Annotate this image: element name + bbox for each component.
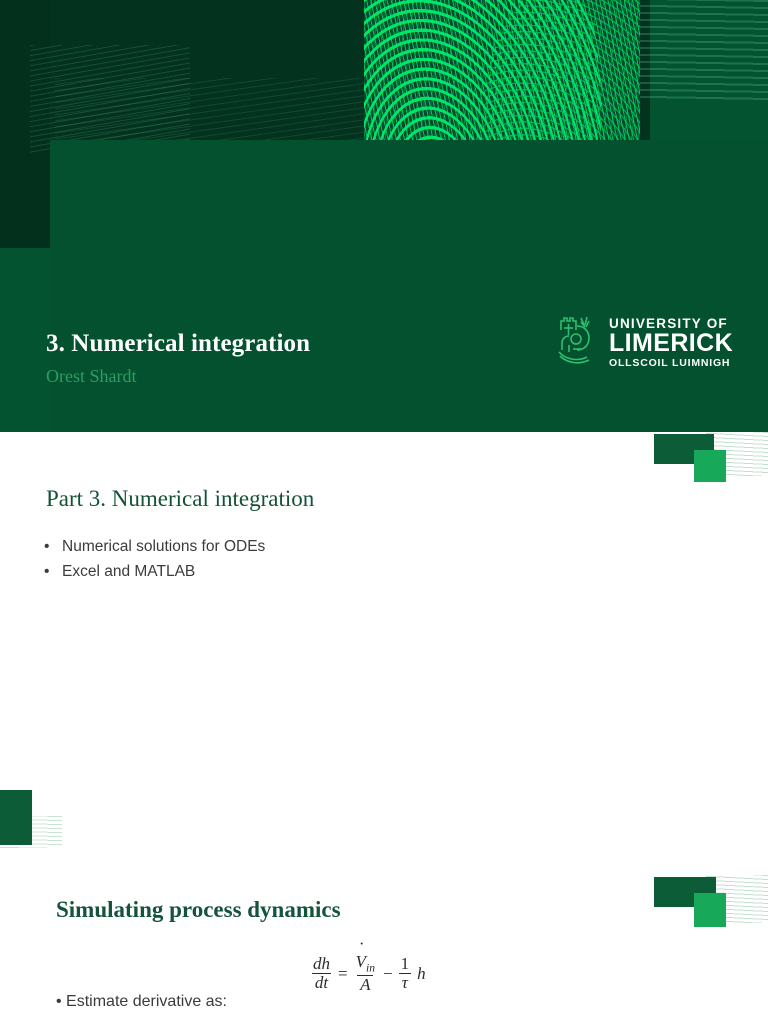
slide1-flow-art-decoration [364, 0, 640, 144]
differential-equation: dh dt = Vin A − 1 τ h [310, 953, 426, 994]
eq-lhs-fraction: dh dt [310, 955, 333, 993]
eq-trailing-variable: h [417, 964, 426, 984]
list-item-label: Excel and MATLAB [62, 559, 195, 584]
eq-term1-fraction: Vin A [353, 953, 378, 994]
university-of-limerick-logo: UNIVERSITY OF LIMERICK OLLSCOIL LUIMNIGH [551, 312, 733, 373]
bullet-marker: • [44, 559, 50, 584]
deco-dark-block [0, 790, 32, 845]
slide1-mid-panel [50, 140, 768, 432]
slide3-title: Simulating process dynamics [56, 897, 341, 923]
slide-deck: 3. Numerical integration Orest Shardt [0, 0, 768, 1024]
eq-lhs-denominator: dt [312, 973, 331, 992]
deco-bright-block [694, 893, 726, 927]
bullet-marker: • [44, 534, 50, 559]
slide-1-title-slide: 3. Numerical integration Orest Shardt [0, 0, 768, 432]
eq-term1-denominator: A [357, 975, 373, 994]
slide3-bullet: • Estimate derivative as: [56, 993, 227, 1011]
ul-wordmark: UNIVERSITY OF LIMERICK OLLSCOIL LUIMNIGH [609, 317, 733, 369]
deco-bright-block [694, 450, 726, 482]
eq-term1-numerator: Vin [353, 953, 378, 975]
eq-equals-sign: = [338, 964, 348, 984]
eq-term1-var: V [356, 953, 366, 971]
eq-term2-numerator: 1 [398, 955, 413, 973]
list-item: • Numerical solutions for ODEs [44, 534, 265, 559]
ul-logo-line3: OLLSCOIL LUIMNIGH [609, 358, 733, 369]
eq-term2-fraction: 1 τ [398, 955, 413, 993]
ul-crest-icon [551, 312, 601, 373]
ul-logo-line1: UNIVERSITY OF [609, 317, 733, 331]
slide-2-agenda-slide: Part 3. Numerical integration • Numerica… [0, 432, 768, 865]
slide2-title: Part 3. Numerical integration [46, 486, 314, 512]
list-item-label: Numerical solutions for ODEs [62, 534, 265, 559]
slide-3-content-slide: Simulating process dynamics dh dt = Vin … [0, 865, 768, 1024]
slide2-corner-decoration [640, 432, 768, 492]
author-name: Orest Shardt [46, 366, 136, 387]
slide2-bottom-left-decoration [0, 790, 70, 850]
slide1-right-wave-texture [640, 0, 768, 100]
eq-lhs-numerator: dh [310, 955, 333, 973]
eq-term2-denominator: τ [399, 973, 411, 992]
ul-logo-line2: LIMERICK [609, 331, 733, 356]
list-item: • Excel and MATLAB [44, 559, 265, 584]
flow-swirl-secondary [484, 0, 640, 144]
eq-minus-sign: − [383, 964, 393, 984]
eq-term1-subscript: in [366, 961, 375, 974]
slide3-corner-decoration [640, 873, 768, 939]
page-title: 3. Numerical integration [46, 330, 310, 358]
slide2-bullet-list: • Numerical solutions for ODEs • Excel a… [44, 534, 265, 584]
